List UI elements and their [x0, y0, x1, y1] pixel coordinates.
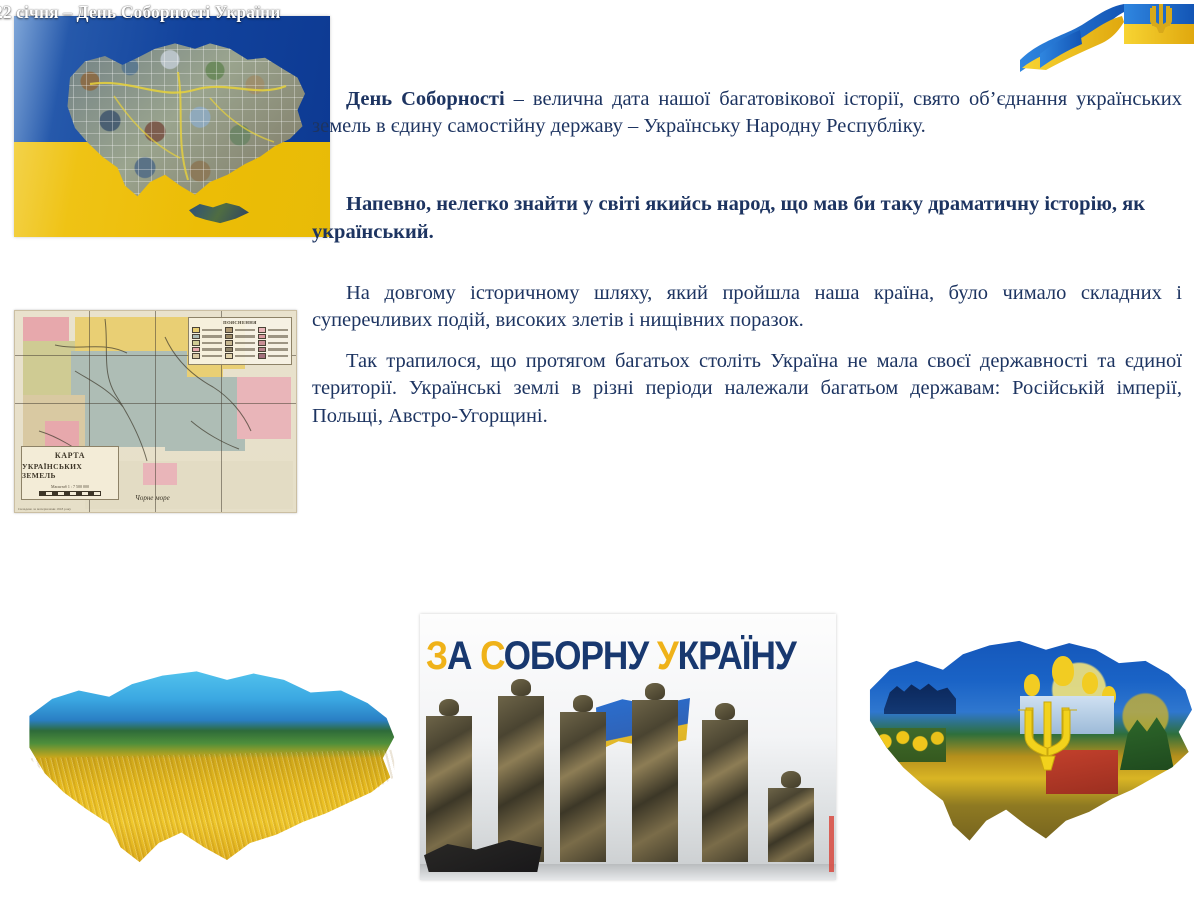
map-legend: ПОЯСНЕННЯ [188, 317, 292, 365]
legend-text [235, 329, 255, 332]
paragraph-2: Напевно, нелегко знайти у світі якийсь н… [312, 191, 1182, 246]
legend-swatch [192, 340, 200, 346]
legend-swatch [225, 340, 233, 346]
soldier-figure [560, 712, 606, 862]
flag-collage-image [14, 16, 330, 237]
legend-text [268, 348, 288, 351]
legend-swatch [258, 347, 266, 353]
legend-row [225, 340, 255, 346]
legend-swatch [258, 340, 266, 346]
legend-swatch [225, 347, 233, 353]
legend-swatch [192, 353, 200, 359]
legend-text [235, 342, 255, 345]
map-title-line1: КАРТА [55, 451, 85, 460]
poster-red-accent [829, 816, 834, 872]
legend-row [225, 353, 255, 359]
legend-row [192, 327, 222, 333]
poster-title-part: З [426, 634, 447, 678]
legend-row [225, 334, 255, 340]
historical-map-image: ПОЯСНЕННЯ [14, 310, 297, 513]
legend-text [202, 329, 222, 332]
legend-text [202, 348, 222, 351]
poster-title: ЗА СОБОРНУ УКРАЇНУ [426, 634, 796, 679]
soldier-figure [498, 696, 544, 862]
legend-row [192, 340, 222, 346]
legend-column [258, 327, 288, 360]
soldier-figure-kneeling [768, 788, 814, 862]
wheat-field-map-image [8, 655, 408, 890]
za-sobornu-ukrainu-poster: ЗА СОБОРНУ УКРАЇНУ [420, 614, 836, 880]
church-dome [1024, 674, 1040, 696]
poster-title-part: У [657, 634, 678, 678]
soldier-figure [426, 716, 472, 862]
poster-title-part: С [480, 634, 503, 678]
legend-row [225, 327, 255, 333]
poster-title-part: КРАЇНУ [678, 634, 796, 678]
paragraph-1: День Соборності – велична дата нашої баг… [312, 86, 1182, 141]
map-footer-note: Складено за матеріалами 1918 року [18, 507, 71, 511]
legend-text [235, 335, 255, 338]
legend-row [225, 347, 255, 353]
text-spacer [312, 335, 1182, 348]
sea-label: Чорне море [135, 494, 170, 502]
legend-text [268, 335, 288, 338]
legend-text [202, 342, 222, 345]
page-title: 22 січня – День Соборності України [0, 2, 280, 23]
map-title-line2: УКРАЇНСЬКИХ ЗЕМЕЛЬ [22, 462, 118, 480]
legend-swatch [258, 353, 266, 359]
legend-column [192, 327, 222, 360]
legend-text [235, 355, 255, 358]
legend-text [202, 335, 222, 338]
legend-swatch [192, 334, 200, 340]
text-spacer [312, 267, 1182, 280]
green-dome-cathedral [1120, 710, 1174, 770]
church-dome [1082, 672, 1098, 694]
legend-row [192, 353, 222, 359]
legend-swatch [258, 327, 266, 333]
church-dome [1052, 656, 1074, 686]
body-text-column: День Соборності – велична дата нашої баг… [312, 86, 1182, 430]
monument-silhouette [884, 674, 956, 714]
legend-row [258, 327, 288, 333]
text-spacer [312, 141, 1182, 171]
soldier-figure [632, 700, 678, 862]
tryzub-icon [1016, 698, 1078, 778]
poster-title-part: ОБОРНУ [504, 634, 657, 678]
ribbon-flag-image [1006, 2, 1196, 74]
legend-row [258, 334, 288, 340]
legend-text [268, 342, 288, 345]
legend-row [192, 334, 222, 340]
waving-flag-icon [1006, 2, 1196, 74]
sunflower-field [874, 728, 946, 762]
soldier-figure [702, 720, 748, 862]
legend-row [258, 340, 288, 346]
legend-swatch [225, 327, 233, 333]
poster-title-part: А [447, 634, 480, 678]
legend-title: ПОЯСНЕННЯ [192, 320, 288, 325]
legend-row [258, 353, 288, 359]
legend-swatch [225, 334, 233, 340]
legend-text [268, 355, 288, 358]
legend-swatch [258, 334, 266, 340]
paragraph-3: На довгому історичному шляху, який пройш… [312, 280, 1182, 335]
map-cartouche: КАРТА УКРАЇНСЬКИХ ЗЕМЕЛЬ Масштаб 1 : 7 5… [21, 446, 119, 500]
legend-row [258, 347, 288, 353]
paragraph-4: Так трапилося, що протягом багатьох стол… [312, 348, 1182, 430]
legend-text [268, 329, 288, 332]
lead-phrase: День Соборності [346, 88, 505, 110]
legend-swatch [225, 353, 233, 359]
map-scale-bar [39, 491, 101, 496]
landmark-collage-map-image [852, 622, 1200, 884]
legend-column [225, 327, 255, 360]
legend-text [202, 355, 222, 358]
slide-canvas: 22 січня – День Соборності України [0, 0, 1200, 900]
legend-text [235, 348, 255, 351]
legend-row [192, 347, 222, 353]
ukraine-landmark-shape [860, 632, 1192, 854]
legend-swatch [192, 327, 200, 333]
map-scale-label: Масштаб 1 : 7 500 000 [51, 484, 89, 489]
legend-swatch [192, 347, 200, 353]
